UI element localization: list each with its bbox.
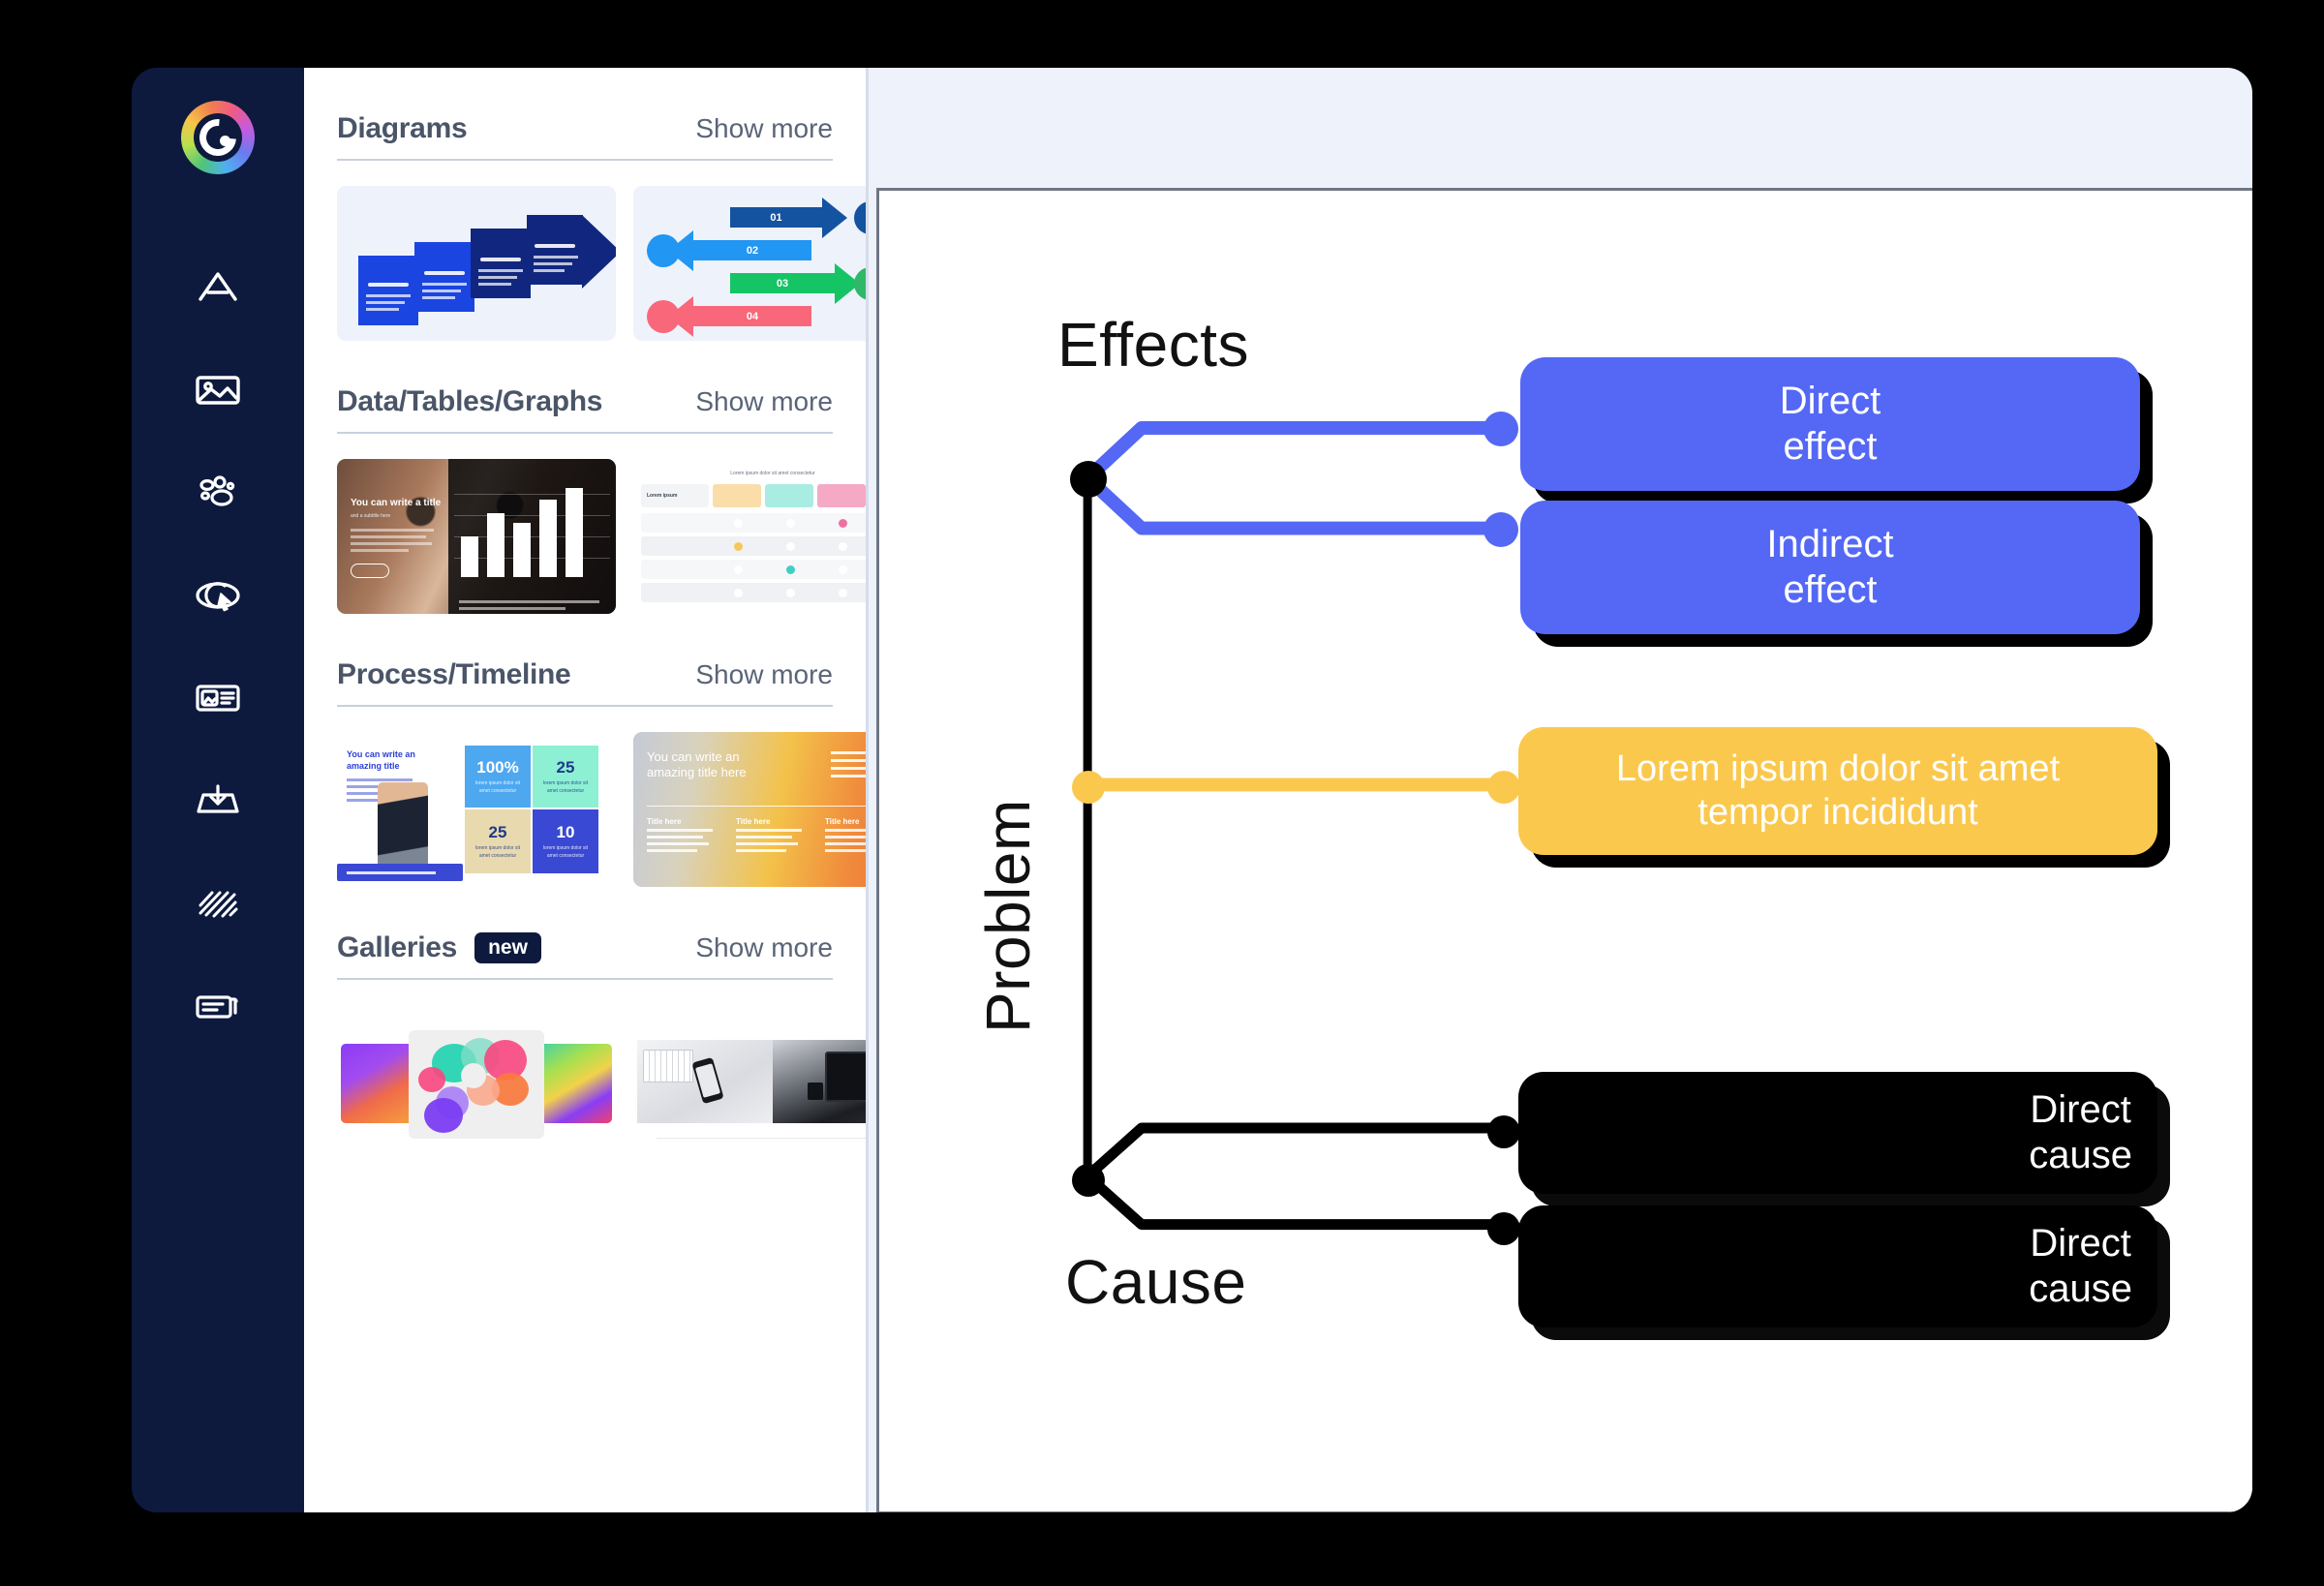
canvas-workspace[interactable]: Effects Problem Cause Directeffect Indir… [866,68,2252,1512]
thumb-photo-barchart[interactable]: You can write a title and a subtitle her… [337,459,616,614]
arrow-label: 03 [730,273,835,293]
junction-dot-effects [1070,461,1107,498]
thumb-subtitle: and a subtitle here [351,513,390,521]
thumb-title: You can write an amazing title here [647,749,753,780]
stat-value: 100% [476,758,518,778]
insert-icon[interactable] [170,753,265,848]
thumb-title: You can write a title [351,498,441,510]
library-section-galleries: Galleries new Show more [337,931,833,1160]
arrow-label: 02 [693,240,811,260]
node-label: Indirecteffect [1766,522,1893,613]
insert-library-panel: Diagrams Show more [304,68,866,1512]
endpoint-dot-direct-cause-2 [1487,1212,1520,1245]
section-divider [337,159,833,161]
thumb-desk-gallery[interactable] [633,1005,866,1160]
show-more-diagrams[interactable]: Show more [695,113,833,144]
show-more-data[interactable]: Show more [695,386,833,417]
stat-value: 25 [489,823,507,842]
shapes-icon[interactable] [170,445,265,540]
junction-dot-problem [1072,771,1105,804]
thumbnail-row: You can write a title and a subtitle her… [337,459,833,614]
library-section-process: Process/Timeline Show more You can write… [337,658,833,887]
smartblocks-icon[interactable] [170,651,265,746]
cause-effect-diagram: Effects Problem Cause Directeffect Indir… [879,191,2252,1511]
stat-value: 25 [557,758,575,778]
thumb-chevron-process[interactable] [337,186,616,341]
section-title: Data/Tables/Graphs [337,385,602,418]
arrow-label: 01 [730,207,822,228]
thumb-title: You can write an amazing title [347,749,430,772]
image-icon[interactable] [170,343,265,438]
section-title: Diagrams [337,112,467,145]
section-divider [337,705,833,707]
pages-icon[interactable] [170,959,265,1053]
stat-value: 10 [557,823,575,842]
arrow-label: 04 [693,306,811,326]
endpoint-dot-direct-effect [1483,412,1518,446]
library-section-diagrams: Diagrams Show more [337,112,833,341]
table-caption: Lorem ipsum dolor sit amet consectetur [633,471,866,476]
table-header-cell: Lorem ipsum [641,484,709,507]
background-icon[interactable] [170,856,265,951]
node-label: Directcause [2029,1087,2132,1178]
diagram-node-direct-effect[interactable]: Directeffect [1520,357,2140,491]
section-title: Process/Timeline [337,658,570,691]
section-title: Galleries [337,931,457,964]
thumb-color-gallery[interactable] [337,1005,616,1160]
endpoint-dot-problem [1487,771,1520,804]
new-badge: new [474,932,541,963]
section-divider [337,432,833,434]
thumb-stats-grid[interactable]: You can write an amazing title 100% lore… [337,732,616,887]
diagram-label-cause: Cause [1065,1246,1247,1318]
thumb-four-arrows[interactable]: 01 02 03 04 [633,186,866,341]
node-label: Directcause [2029,1221,2132,1312]
node-label: Directeffect [1780,379,1881,470]
app-window: Diagrams Show more [132,68,2252,1512]
diagram-node-problem[interactable]: Lorem ipsum dolor sit amettempor incidid… [1518,727,2157,855]
junction-dot-causes [1072,1164,1105,1197]
genially-logo-icon[interactable] [181,101,255,174]
library-section-data: Data/Tables/Graphs Show more You can wri… [337,385,833,614]
thumbnail-row: 01 02 03 04 [337,186,833,341]
diagram-node-direct-cause-1[interactable]: Directcause [1518,1072,2157,1194]
text-icon[interactable] [170,240,265,335]
diagram-node-direct-cause-2[interactable]: Directcause [1518,1205,2157,1327]
diagram-label-problem: Problem [972,799,1044,1033]
interactivity-icon[interactable] [170,548,265,643]
section-divider [337,978,833,980]
thumb-gradient-columns[interactable]: You can write an amazing title here Titl… [633,732,866,887]
thumbnail-row [337,1005,833,1160]
show-more-process[interactable]: Show more [695,659,833,690]
endpoint-dot-direct-cause-1 [1487,1115,1520,1148]
column-title: Title here [647,817,717,826]
thumb-comparison-table[interactable]: Lorem ipsum dolor sit amet consectetur L… [633,459,866,614]
show-more-galleries[interactable]: Show more [695,932,833,963]
slide-frame[interactable]: Effects Problem Cause Directeffect Indir… [876,188,2252,1512]
endpoint-dot-indirect-effect [1483,512,1518,547]
diagram-node-indirect-effect[interactable]: Indirecteffect [1520,501,2140,634]
thumbnail-row: You can write an amazing title 100% lore… [337,732,833,887]
node-label: Lorem ipsum dolor sit amettempor incidid… [1616,747,2060,835]
column-title: Title here [825,817,866,826]
left-icon-rail [132,68,304,1512]
column-title: Title here [736,817,806,826]
diagram-label-effects: Effects [1057,309,1249,381]
